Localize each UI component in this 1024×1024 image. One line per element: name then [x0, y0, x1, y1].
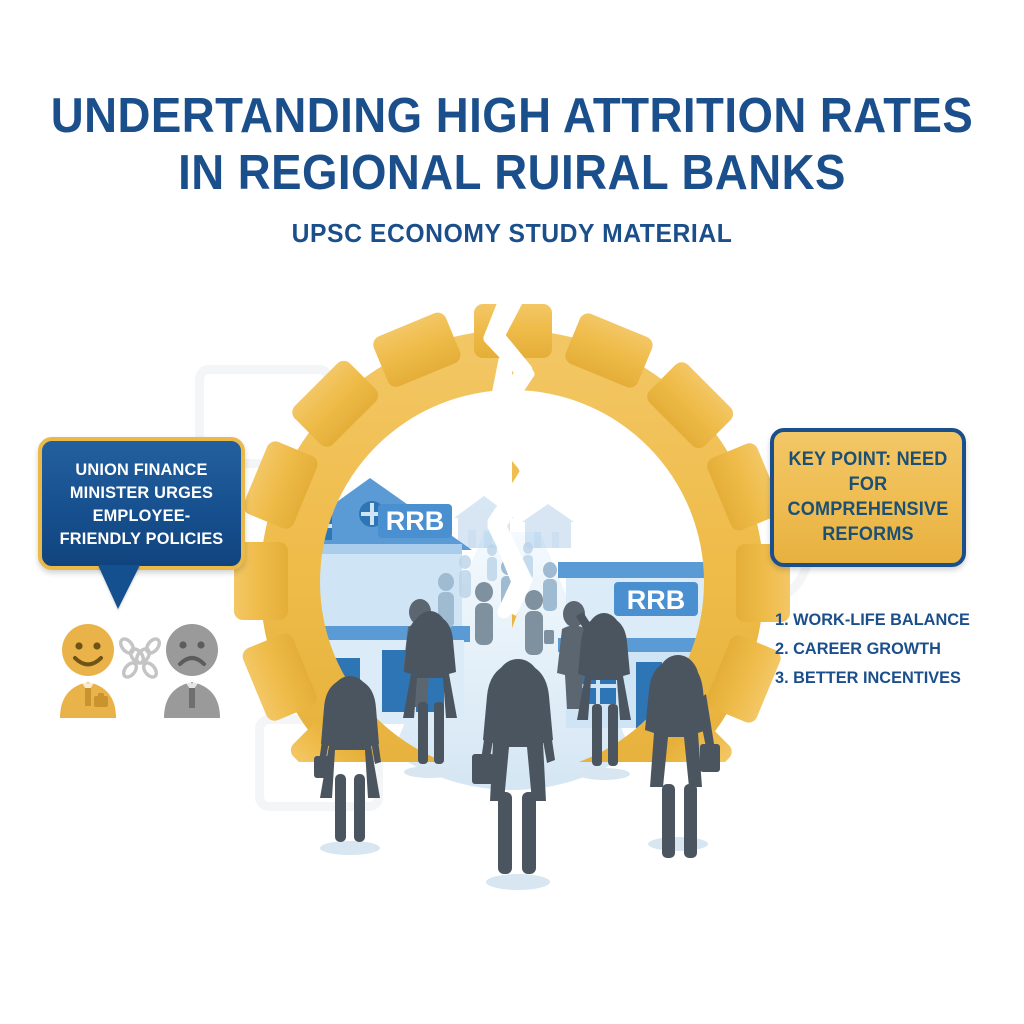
reform-list: 1. WORK-LIFE BALANCE 2. CAREER GROWTH 3.…: [775, 605, 1005, 692]
list-item: 2. CAREER GROWTH: [775, 634, 996, 663]
sad-employee-icon: [164, 624, 220, 718]
bank-sign-right: RRB: [627, 585, 686, 615]
title-line-1: UNDERTANDING HIGH ATTRITION RATES: [36, 88, 988, 145]
list-item: 1. WORK-LIFE BALANCE: [775, 605, 996, 634]
page-title: UNDERTANDING HIGH ATTRITION RATES IN REG…: [0, 88, 1024, 249]
bank-sign-left: RRB: [386, 506, 445, 536]
page-subtitle: UPSC ECONOMY STUDY MATERIAL: [26, 218, 999, 249]
title-line-2: IN REGIONAL RUIRAL BANKS: [36, 145, 988, 202]
left-callout-bubble[interactable]: UNION FINANCE MINISTER URGES EMPLOYEE-FR…: [38, 437, 245, 570]
right-callout-text: KEY POINT: NEED FOR COMPREHENSIVE REFORM…: [786, 447, 949, 547]
happy-employee-icon: [60, 624, 116, 718]
right-callout-box[interactable]: KEY POINT: NEED FOR COMPREHENSIVE REFORM…: [770, 428, 966, 567]
bubble-tail: [98, 565, 140, 609]
left-callout-text: UNION FINANCE MINISTER URGES EMPLOYEE-FR…: [56, 458, 228, 550]
central-illustration: RRB RRB: [222, 282, 802, 922]
list-item: 3. BETTER INCENTIVES: [775, 663, 996, 692]
employee-mood-icons: [52, 618, 232, 718]
broken-chain-icon: [118, 637, 162, 680]
infographic-canvas: UNDERTANDING HIGH ATTRITION RATES IN REG…: [0, 0, 1024, 1024]
